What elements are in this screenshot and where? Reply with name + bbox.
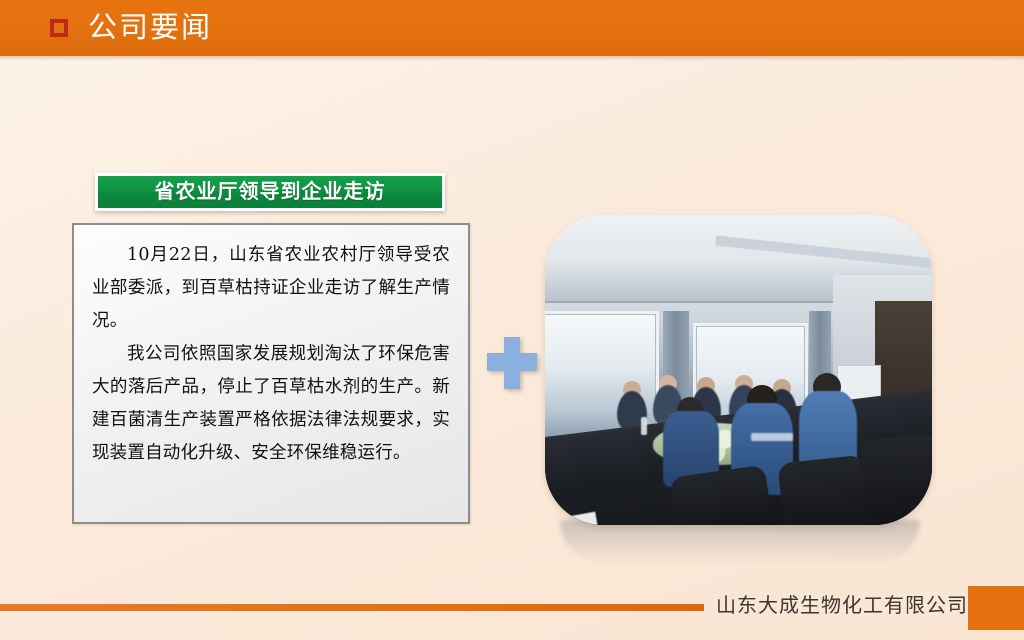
article-text-box: 10月22日，山东省农业农村厅领导受农业部委派，到百草枯持证企业走访了解生产情况… [72,223,470,524]
section-banner: 省农业厅领导到企业走访 [95,173,445,211]
header-bar: 公司要闻 [0,0,1024,56]
plus-cross-icon [487,337,537,389]
photo-chair [777,455,870,525]
photo-uniform-logo [751,433,793,441]
footer-company-name: 山东大成生物化工有限公司 [716,592,968,620]
header-shadow [0,56,1024,61]
section-banner-title: 省农业厅领导到企业走访 [155,182,386,202]
photo-chair [860,434,932,523]
page-title: 公司要闻 [88,14,212,43]
article-paragraph-2: 我公司依照国家发展规划淘汰了环保危害大的落后产品，停止了百草枯水剂的生产。新建百… [92,338,450,470]
photo-reflection [560,520,920,564]
footer-rule [0,604,704,611]
meeting-room-photo [545,215,932,525]
article-paragraph-1: 10月22日，山东省农业农村厅领导受农业部委派，到百草枯持证企业走访了解生产情况… [92,239,450,338]
slide-canvas: 公司要闻 省农业厅领导到企业走访 10月22日，山东省农业农村厅领导受农业部委派… [0,0,1024,640]
square-outline-icon [50,19,68,37]
photo-bottle [641,417,647,435]
footer-accent-block [968,586,1024,630]
photo-ceiling-band [715,236,932,269]
photo-content [545,215,932,525]
